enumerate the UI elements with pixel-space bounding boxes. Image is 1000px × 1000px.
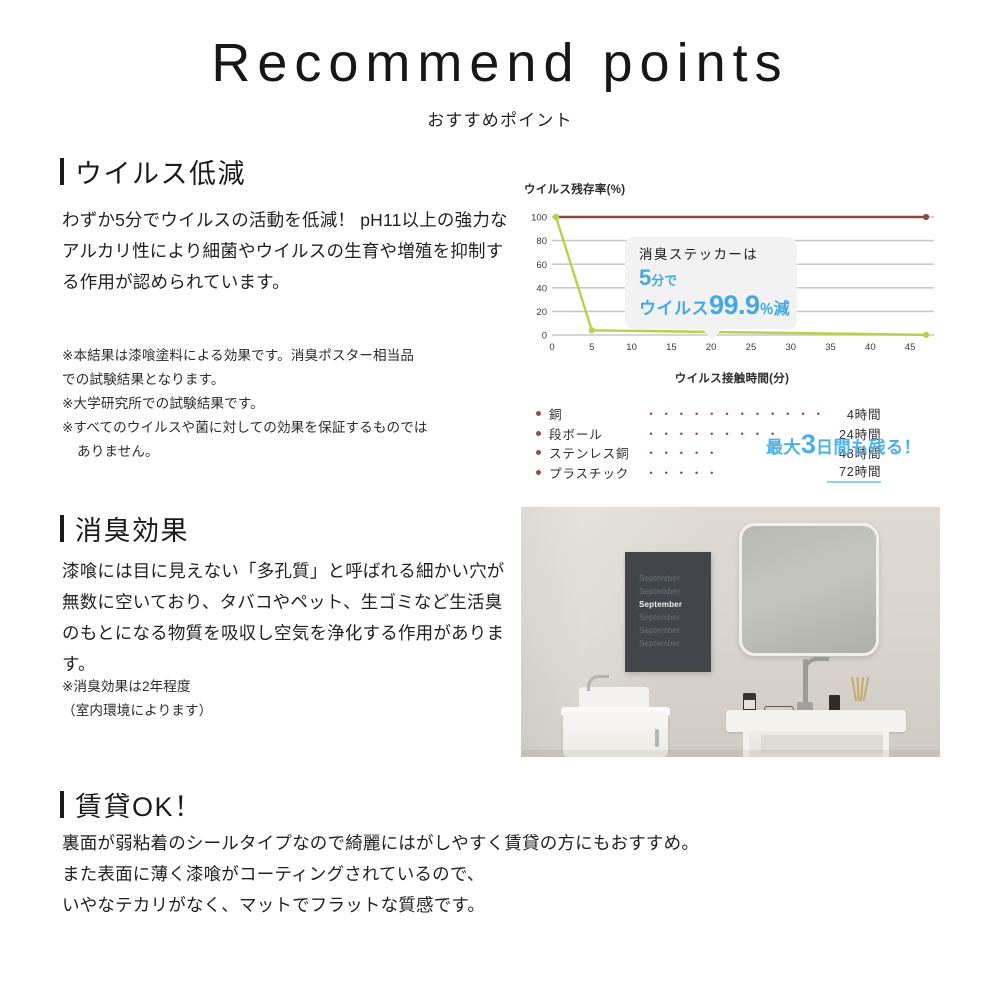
legend-bullet-icon <box>536 411 541 416</box>
section-title-rental: 賃貸OK！ <box>75 785 203 824</box>
section-heading-rental: 賃貸OK！ <box>60 785 203 824</box>
poster-line-highlight: September <box>639 600 701 609</box>
page-title: Recommend points <box>0 34 1000 92</box>
svg-text:0: 0 <box>549 342 554 353</box>
section-title-deodorize: 消臭効果 <box>75 509 189 548</box>
note-line: ありません。 <box>62 440 514 464</box>
callout-line-1: 消臭ステッカーは <box>639 246 785 264</box>
section-body-deodorize: 漆喰には目に見えない「多孔質」と呼ばれる細かい穴が無数に空いており、タバコやペッ… <box>62 556 514 681</box>
callout-minutes-number: 5 <box>639 265 651 290</box>
callout-word-virus: ウイルス <box>639 299 709 318</box>
section-heading-virus: ウイルス低減 <box>60 152 246 191</box>
body-line: いやなテカリがなく、マットでフラットな質感です。 <box>62 890 832 921</box>
legend-value: 4時間 <box>827 404 881 423</box>
legend-leader-dots: ・・・・・・・・・・・・ <box>645 405 827 422</box>
legend-label: 銅 <box>549 404 645 423</box>
section-heading-deodorize: 消臭効果 <box>60 509 189 548</box>
legend-label: プラスチック <box>549 463 645 482</box>
legend-leader-dots: ・・・・・ <box>645 464 827 481</box>
svg-text:30: 30 <box>785 342 796 353</box>
svg-text:15: 15 <box>666 342 677 353</box>
svg-text:0: 0 <box>542 331 547 342</box>
photo-toilet-faucet <box>587 675 609 691</box>
legend-bullet-icon <box>536 431 541 436</box>
page-subtitle: おすすめポイント <box>0 106 1000 131</box>
body-line: 裏面が弱粘着のシールタイプなので綺麗にはがしやすく賃貸の方にもおすすめ。 <box>62 828 832 859</box>
poster-line: September <box>639 639 701 648</box>
callout-line-2: 5分で <box>639 266 785 291</box>
body-line: また表面に薄く漆喰がコーティングされているので、 <box>62 859 832 890</box>
svg-text:10: 10 <box>626 342 637 353</box>
svg-text:40: 40 <box>536 283 547 294</box>
heading-bar-icon <box>60 515 64 542</box>
svg-text:60: 60 <box>536 260 547 271</box>
legend-bullet-icon <box>536 470 541 475</box>
max-duration-badge: 最大3日間も残る！ <box>766 429 921 460</box>
note-line: での試験結果となります。 <box>62 368 514 392</box>
page-root: Recommend points おすすめポイント ウイルス低減 わずか5分でウ… <box>0 0 1000 1000</box>
section-body-virus: わずか5分でウイルスの活動を低減！ pH11以上の強力なアルカリ性により細菌やウ… <box>62 205 514 298</box>
section-title-virus: ウイルス低減 <box>75 152 246 191</box>
svg-text:80: 80 <box>536 236 547 247</box>
callout-minutes-unit: 分 <box>651 273 664 288</box>
section-body-rental: 裏面が弱粘着のシールタイプなので綺麗にはがしやすく賃貸の方にもおすすめ。 また表… <box>62 828 832 921</box>
badge-number: 3 <box>801 429 816 459</box>
callout-line-3: ウイルス99.9％減 <box>639 291 785 319</box>
photo-toilet-handle <box>655 729 659 747</box>
svg-text:20: 20 <box>706 342 717 353</box>
note-line: （室内環境によります） <box>62 699 514 723</box>
callout-percent-sign: ％ <box>760 301 774 317</box>
photo-mirror <box>739 523 879 656</box>
svg-text:20: 20 <box>536 307 547 318</box>
poster-line: September <box>639 587 701 596</box>
legend-bullet-icon <box>536 450 541 455</box>
callout-particle-de: で <box>664 273 677 288</box>
chart-x-axis-title: ウイルス接触時間(分) <box>524 370 940 386</box>
svg-text:5: 5 <box>589 342 594 353</box>
page-header: Recommend points おすすめポイント <box>0 34 1000 131</box>
bathroom-photo: September September September September … <box>521 507 940 757</box>
heading-bar-icon <box>60 791 64 818</box>
note-line: ※すべてのウイルスや菌に対しての効果を保証するものでは <box>62 416 514 440</box>
photo-floor-shadow <box>521 750 940 757</box>
callout-word-reduce: 減 <box>774 301 790 318</box>
legend-label: ステンレス銅 <box>549 443 645 462</box>
svg-text:45: 45 <box>905 342 916 353</box>
callout-percent-number: 99.9 <box>709 290 760 320</box>
poster-line: September <box>639 613 701 622</box>
svg-text:25: 25 <box>746 342 757 353</box>
section-notes-virus: ※本結果は漆喰塗料による効果です。消臭ポスター相当品 での試験結果となります。 … <box>62 344 514 464</box>
chart-callout-bubble: 消臭ステッカーは 5分で ウイルス99.9％減 <box>625 237 797 329</box>
chart-y-axis-title: ウイルス残存率(%) <box>524 181 940 197</box>
poster-line: September <box>639 626 701 635</box>
svg-text:40: 40 <box>865 342 876 353</box>
legend-label: 段ボール <box>549 424 645 443</box>
note-line: ※大学研究所での試験結果です。 <box>62 392 514 416</box>
badge-suffix: 日間も残る！ <box>816 438 921 457</box>
note-line: ※消臭効果は2年程度 <box>62 675 514 699</box>
photo-washbasin-counter <box>726 710 906 732</box>
legend-row: プラスチック ・・・・・ 72時間 <box>536 463 881 483</box>
heading-bar-icon <box>60 158 64 185</box>
section-notes-deodorize: ※消臭効果は2年程度 （室内環境によります） <box>62 675 514 723</box>
legend-value-highlighted: 72時間 <box>827 461 881 483</box>
svg-text:35: 35 <box>825 342 836 353</box>
note-line: ※本結果は漆喰塗料による効果です。消臭ポスター相当品 <box>62 344 514 368</box>
svg-text:100: 100 <box>531 213 547 224</box>
photo-poster: September September September September … <box>625 552 711 672</box>
legend-row: 銅 ・・・・・・・・・・・・ 4時間 <box>536 404 881 424</box>
poster-line: September <box>639 574 701 583</box>
badge-prefix: 最大 <box>766 438 801 457</box>
